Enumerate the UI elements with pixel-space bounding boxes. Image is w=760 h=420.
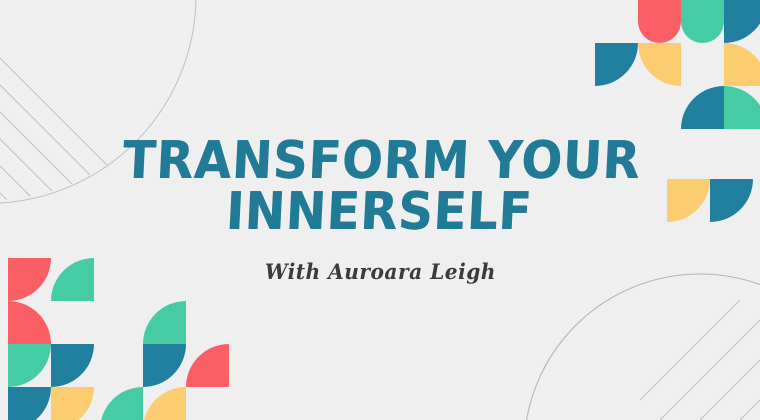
promo-banner: TRANSFORM YOUR INNERSELF With Auroara Le…: [0, 0, 760, 420]
subtitle: With Auroara Leigh: [264, 259, 495, 284]
page-title: TRANSFORM YOUR INNERSELF: [119, 136, 642, 238]
headline-block: TRANSFORM YOUR INNERSELF With Auroara Le…: [0, 0, 760, 420]
title-line-2: INNERSELF: [119, 187, 639, 238]
